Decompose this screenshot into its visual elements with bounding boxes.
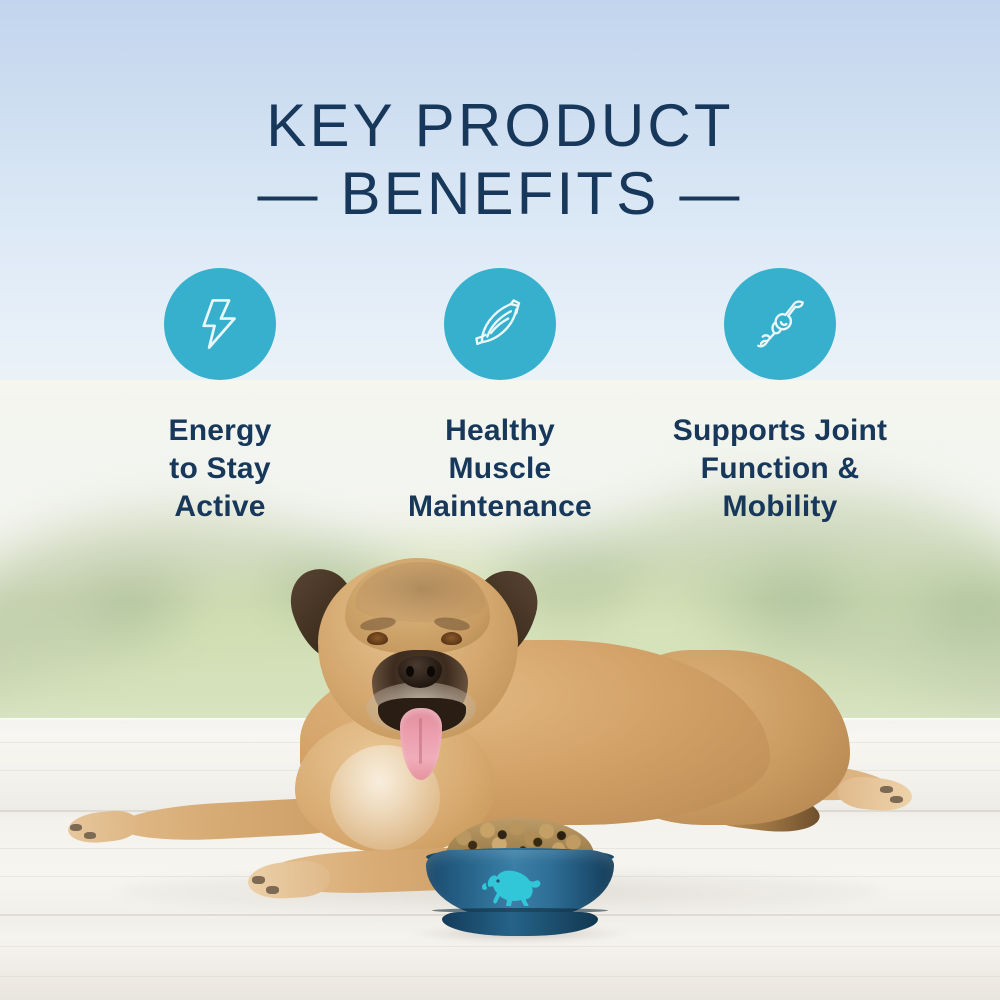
title-line-1: KEY PRODUCT (0, 92, 1000, 160)
page-title: KEY PRODUCT — BENEFITS — (0, 92, 1000, 228)
title-line-2: — BENEFITS — (0, 160, 1000, 228)
benefit-label-energy: Energy to Stay Active (169, 412, 272, 525)
muscle-fiber-icon (444, 268, 556, 380)
lightning-bolt-icon (164, 268, 276, 380)
benefit-item-energy: Energy to Stay Active (80, 268, 360, 525)
overlay-content: KEY PRODUCT — BENEFITS — Energy to Stay … (0, 0, 1000, 1000)
benefit-label-muscle: Healthy Muscle Maintenance (408, 412, 592, 525)
benefit-item-muscle: Healthy Muscle Maintenance (360, 268, 640, 525)
benefit-item-joint: Supports Joint Function & Mobility (640, 268, 920, 525)
benefits-row: Energy to Stay Active (80, 268, 920, 525)
benefit-label-joint: Supports Joint Function & Mobility (673, 412, 887, 525)
benefits-graphic: KEY PRODUCT — BENEFITS — Energy to Stay … (0, 0, 1000, 1000)
bone-joint-icon (724, 268, 836, 380)
